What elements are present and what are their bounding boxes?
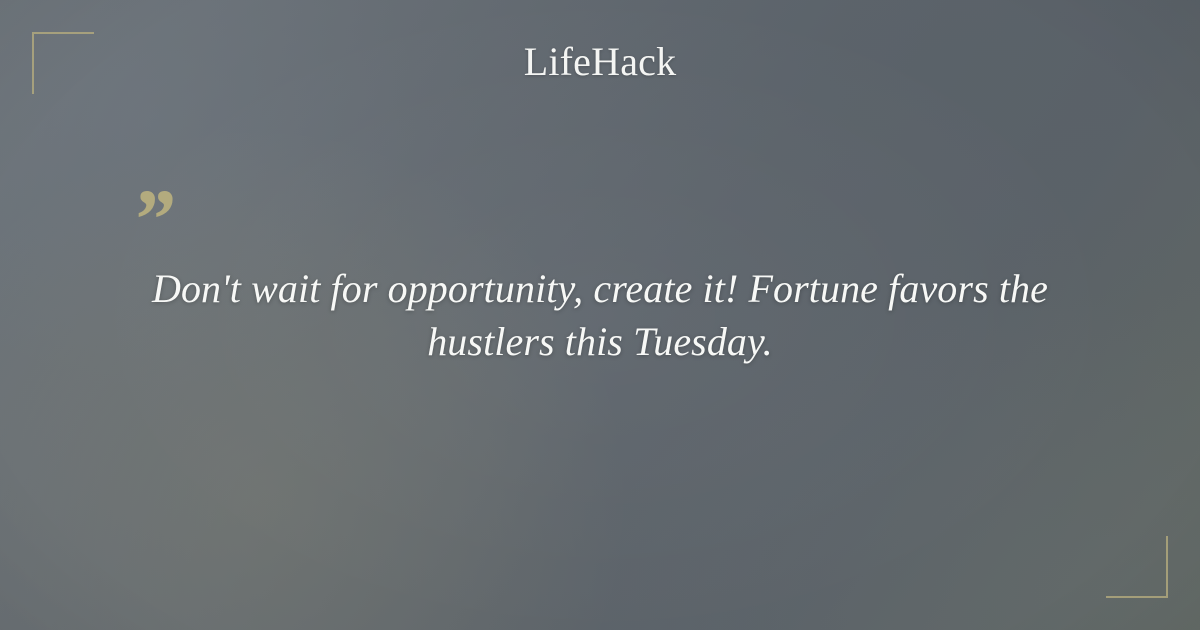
corner-bracket-bottom-right-icon: [1106, 536, 1168, 598]
quote-card: LifeHack ” Don't wait for opportunity, c…: [0, 0, 1200, 630]
brand-wordmark: LifeHack: [0, 38, 1200, 86]
quotation-mark-icon: ”: [131, 176, 172, 262]
quote-text: Don't wait for opportunity, create it! F…: [110, 262, 1090, 368]
quote-block: Don't wait for opportunity, create it! F…: [110, 262, 1090, 368]
